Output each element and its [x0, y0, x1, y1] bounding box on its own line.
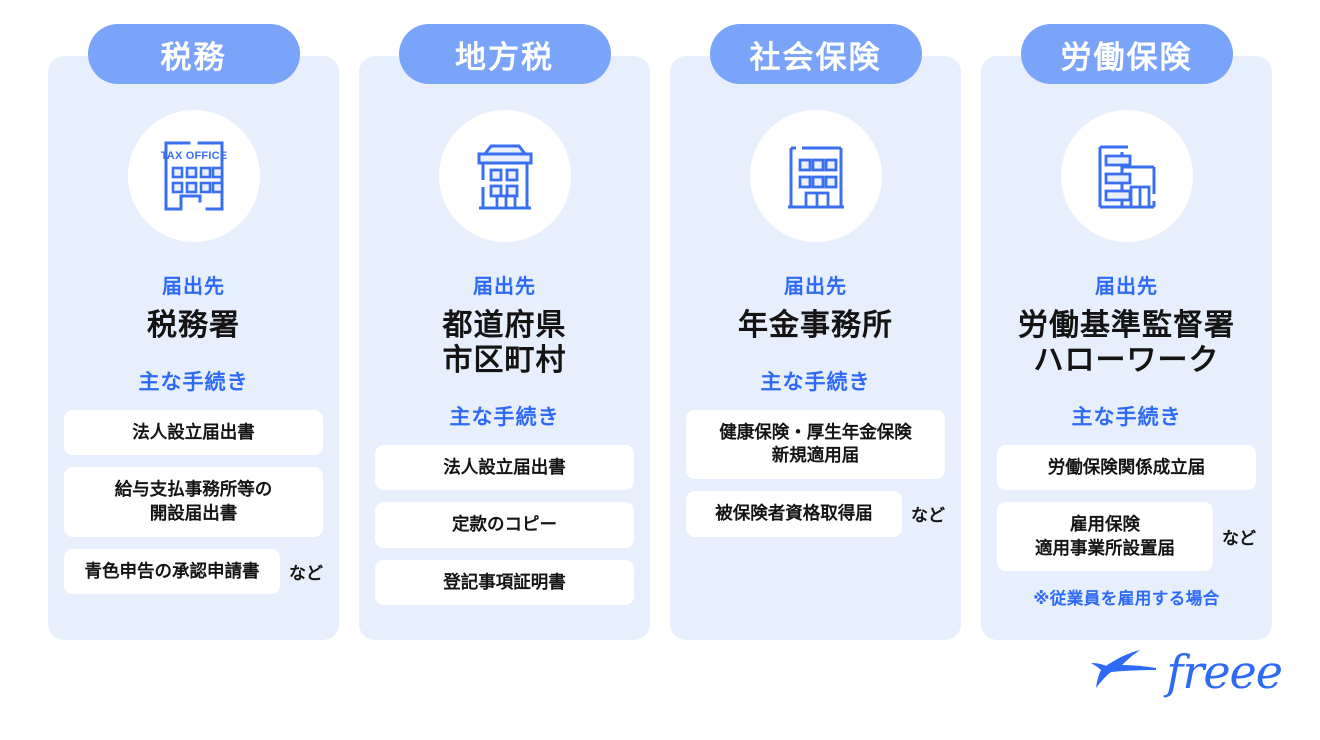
chip-line: 労働保険関係成立届 [1009, 456, 1244, 480]
chip-line: 登記事項証明書 [387, 571, 622, 595]
brand-logo: freee [1088, 647, 1282, 696]
destination-label: 届出先 [784, 270, 847, 299]
destination-name-line: 年金事務所 [738, 309, 893, 344]
destination-label: 届出先 [1095, 270, 1158, 299]
procedures-label: 主な手続き [761, 366, 871, 396]
destination-name-line: 市区町村 [443, 344, 567, 379]
chip-line: 雇用保険 [1009, 513, 1201, 537]
category-pill-local-tax: 地方税 [399, 24, 611, 84]
destination-label: 届出先 [473, 270, 536, 299]
category-column-labor-insurance: 労働保険 届出先 [981, 56, 1272, 640]
procedure-chip: 被保険者資格取得届 [686, 491, 902, 537]
destination-name: 税務署 [147, 309, 240, 344]
category-column-social-insurance: 社会保険 [670, 56, 961, 640]
list-item: 給与支払事務所等の 開設届出書 [64, 467, 323, 536]
destination-name: 都道府県 市区町村 [443, 309, 567, 379]
procedures-label: 主な手続き [450, 401, 560, 431]
procedure-chip: 定款のコピー [375, 502, 634, 548]
infographic-board: 税務 TAX OFFICE [0, 0, 1320, 740]
procedure-chip: 健康保険・厚生年金保険 新規適用届 [686, 410, 945, 479]
etc-suffix: など [911, 501, 945, 526]
chip-line: 新規適用届 [698, 444, 933, 468]
list-item: 被保険者資格取得届 など [686, 491, 945, 537]
list-item: 雇用保険 適用事業所設置届 など [997, 502, 1256, 571]
list-item: 定款のコピー [375, 502, 634, 548]
procedure-list: 健康保険・厚生年金保険 新規適用届 被保険者資格取得届 など [686, 410, 945, 537]
chip-line: 法人設立届出書 [76, 421, 311, 445]
procedure-chip: 労働保険関係成立届 [997, 445, 1256, 491]
chip-line: 定款のコピー [387, 513, 622, 537]
procedure-list: 法人設立届出書 給与支払事務所等の 開設届出書 青色申告の承認申請書 など [64, 410, 323, 595]
list-item: 労働保険関係成立届 [997, 445, 1256, 491]
procedure-chip: 登記事項証明書 [375, 560, 634, 606]
procedure-chip: 法人設立届出書 [64, 410, 323, 456]
procedure-chip: 給与支払事務所等の 開設届出書 [64, 467, 323, 536]
procedure-list: 法人設立届出書 定款のコピー 登記事項証明書 [375, 445, 634, 606]
chip-line: 健康保険・厚生年金保険 [698, 421, 933, 445]
destination-name-line: ハローワーク [1018, 344, 1235, 379]
chip-line: 被保険者資格取得届 [698, 502, 890, 526]
etc-suffix: など [289, 559, 323, 584]
tax-office-building-icon: TAX OFFICE [128, 110, 260, 242]
procedures-label: 主な手続き [139, 366, 249, 396]
list-item: 登記事項証明書 [375, 560, 634, 606]
chip-line: 開設届出書 [76, 502, 311, 526]
list-item: 法人設立届出書 [64, 410, 323, 456]
svg-text:TAX OFFICE: TAX OFFICE [160, 150, 227, 162]
category-column-local-tax: 地方税 [359, 56, 650, 640]
destination-name-line: 税務署 [147, 309, 240, 344]
destination-name-line: 都道府県 [443, 309, 567, 344]
labor-bureau-building-icon [1061, 110, 1193, 242]
category-column-tax: 税務 TAX OFFICE [48, 56, 339, 640]
destination-name: 労働基準監督署 ハローワーク [1018, 309, 1235, 379]
etc-suffix: など [1222, 524, 1256, 549]
procedure-chip: 法人設立届出書 [375, 445, 634, 491]
list-item: 法人設立届出書 [375, 445, 634, 491]
category-pill-social-insurance: 社会保険 [710, 24, 922, 84]
brand-wordmark: freee [1166, 649, 1282, 695]
procedure-chip: 雇用保険 適用事業所設置届 [997, 502, 1213, 571]
freee-swallow-logo-icon [1088, 647, 1160, 696]
procedures-label: 主な手続き [1072, 401, 1182, 431]
pension-office-building-icon [750, 110, 882, 242]
procedure-chip: 青色申告の承認申請書 [64, 549, 280, 595]
destination-name: 年金事務所 [738, 309, 893, 344]
chip-line: 給与支払事務所等の [76, 478, 311, 502]
procedure-list: 労働保険関係成立届 雇用保険 適用事業所設置届 など [997, 445, 1256, 572]
list-item: 青色申告の承認申請書 など [64, 549, 323, 595]
footnote-employee-hiring: ※従業員を雇用する場合 [1033, 585, 1220, 609]
chip-line: 青色申告の承認申請書 [76, 560, 268, 584]
category-pill-tax: 税務 [88, 24, 300, 84]
chip-line: 適用事業所設置届 [1009, 537, 1201, 561]
chip-line: 法人設立届出書 [387, 456, 622, 480]
city-hall-building-icon [439, 110, 571, 242]
destination-label: 届出先 [162, 270, 225, 299]
category-columns: 税務 TAX OFFICE [48, 56, 1272, 640]
destination-name-line: 労働基準監督署 [1018, 309, 1235, 344]
list-item: 健康保険・厚生年金保険 新規適用届 [686, 410, 945, 479]
category-pill-labor-insurance: 労働保険 [1021, 24, 1233, 84]
